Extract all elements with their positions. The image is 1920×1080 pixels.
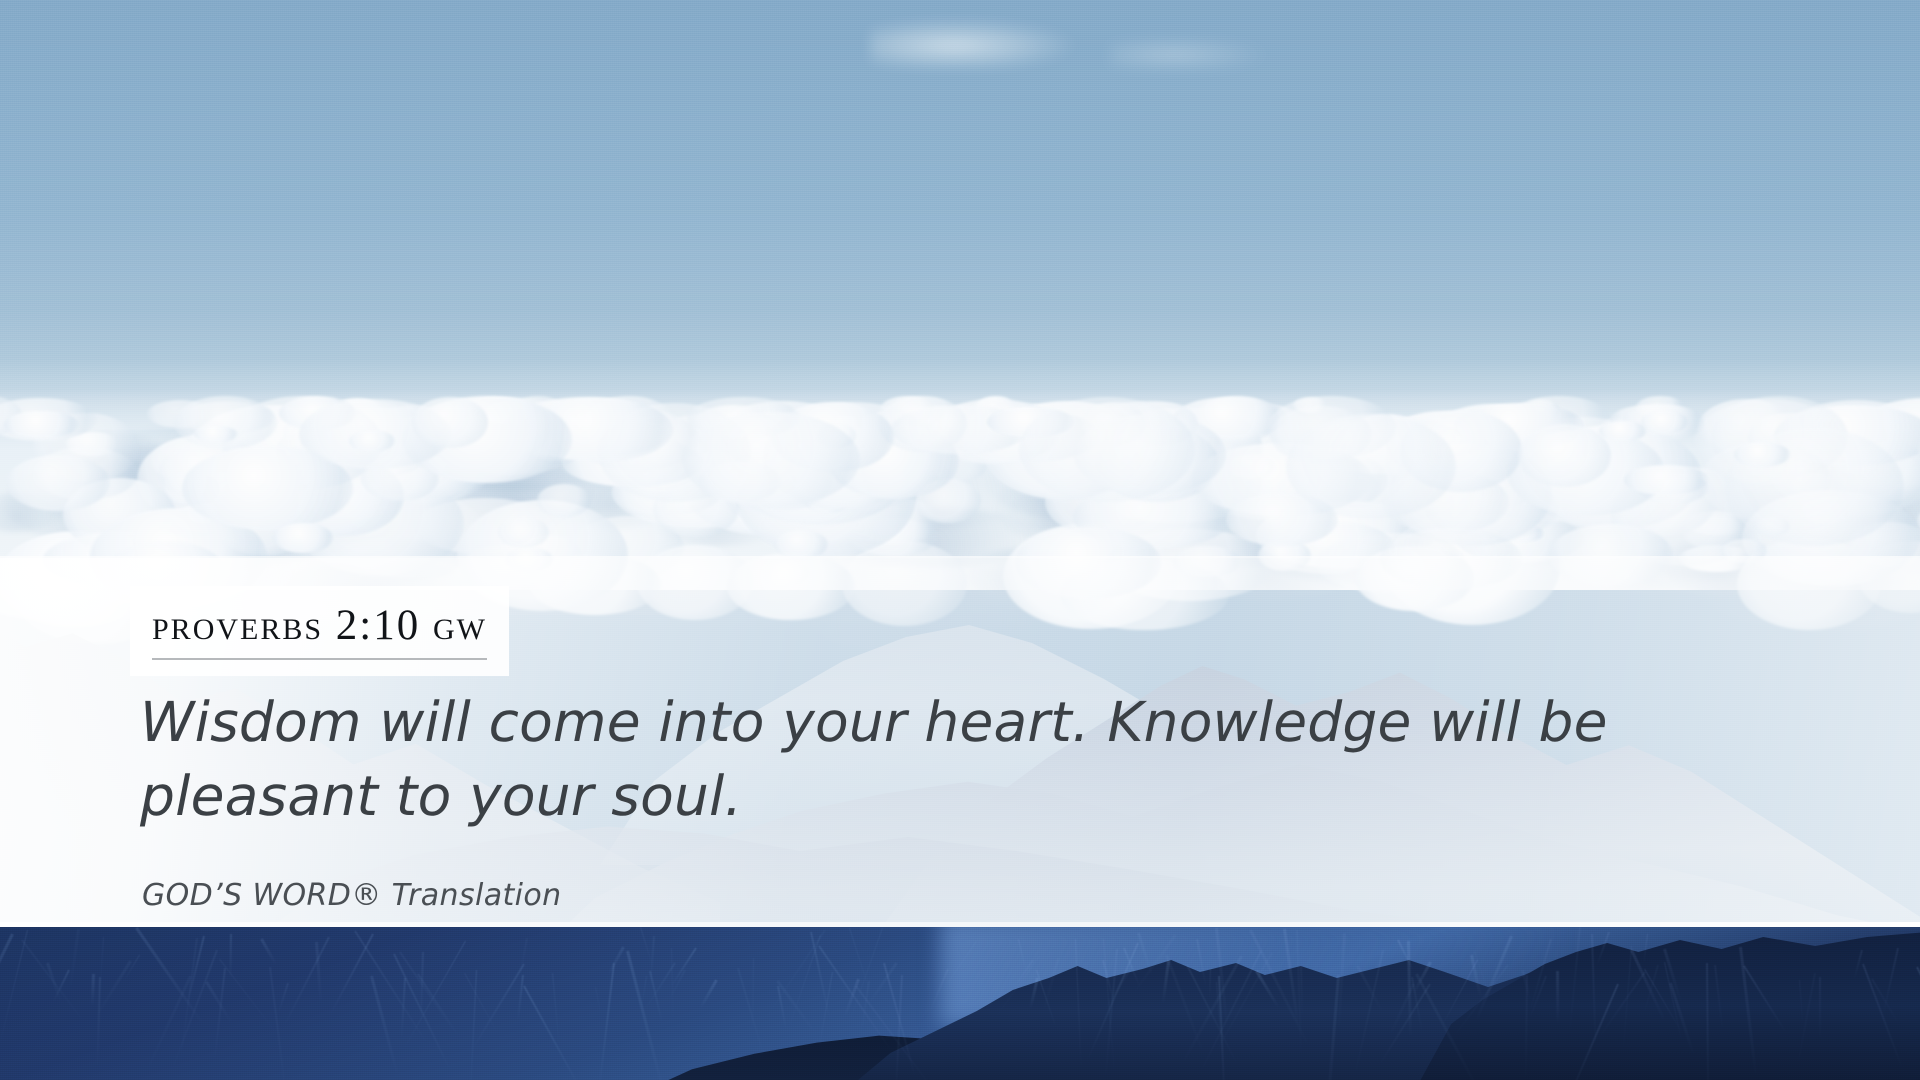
cloud-puff [1286,414,1456,519]
verse-text-line-2: pleasant to your soul. [140,764,742,828]
cloud-puff [682,412,860,508]
ridge-texture-streak [96,977,100,1071]
ridge-texture-streak [282,937,330,1030]
cloud-puff [4,411,79,438]
foreground-navy-mountains [0,927,1920,1080]
ridge-texture-streak [818,946,894,1055]
ridge-texture-streak [1556,971,1559,1025]
sky-cloud-wisp-secondary-icon [1110,36,1270,70]
cloud-puff [6,455,110,511]
cloud-puff [1019,397,1195,502]
ridge-texture-streak [756,930,825,1032]
ridge-texture-streak [370,976,400,1080]
ridge-texture-streak [470,964,524,1052]
ridge-texture-streak [260,938,277,966]
ridge-texture-streak [21,939,90,1029]
ridge-texture-streak [91,974,95,1007]
verse-text-line-1: Wisdom will come into your heart. Knowle… [140,690,1608,754]
cloud-puff [194,426,238,442]
ridge-texture-streak [213,968,226,1066]
cloud-puff [1518,424,1612,487]
verse-content: Proverbs 2:10 GW Wisdom will come into y… [0,558,1920,924]
cloud-puff [349,430,396,452]
ridge-texture-streak [598,963,615,1080]
ridge-texture-streak [670,947,697,988]
reference-chip: Proverbs 2:10 GW [130,586,509,676]
cloud-puff [1599,421,1647,441]
verse-reference: Proverbs 2:10 GW [152,604,487,647]
ridge-texture-streak [68,929,80,997]
ridge-texture-streak [517,975,524,1022]
ridge-texture-streak [277,983,288,1014]
cloud-puff [412,397,488,447]
sky-cloud-wisp-icon [870,18,1080,68]
verse-wallpaper: Proverbs 2:10 GW Wisdom will come into y… [0,0,1920,1080]
ridge-texture-streak [606,946,624,976]
reference-underline [152,658,487,660]
translation-attribution: GOD’S WORD® Translation [142,878,562,913]
ridge-texture-streak [752,958,754,1043]
cloud-puff [273,523,333,553]
ridge-texture-streak [329,934,374,1017]
cloud-puff [1624,465,1708,494]
cloud-puff [1641,410,1687,434]
verse-text: Wisdom will come into your heart. Knowle… [140,686,1760,833]
ridge-texture-streak [523,986,583,1080]
ridge-texture-streak [699,979,718,1009]
ridge-texture-streak [1819,977,1821,1043]
cloud-puff [774,530,828,559]
ridge-texture-streak [595,987,602,1018]
